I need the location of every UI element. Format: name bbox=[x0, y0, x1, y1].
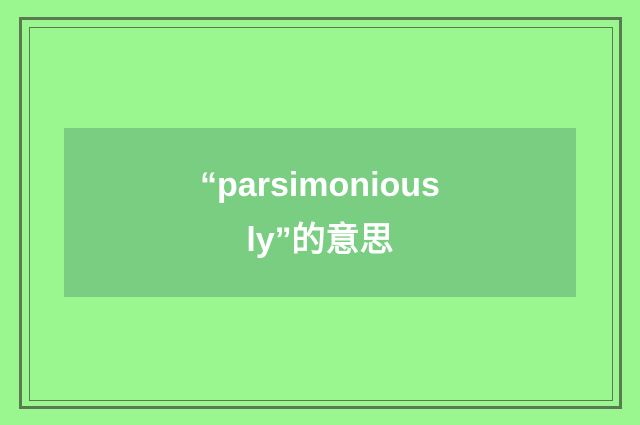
page-title: “parsimoniously”的意思 bbox=[200, 158, 440, 268]
title-banner: “parsimoniously”的意思 bbox=[64, 128, 576, 297]
page-canvas: “parsimoniously”的意思 bbox=[0, 0, 640, 425]
